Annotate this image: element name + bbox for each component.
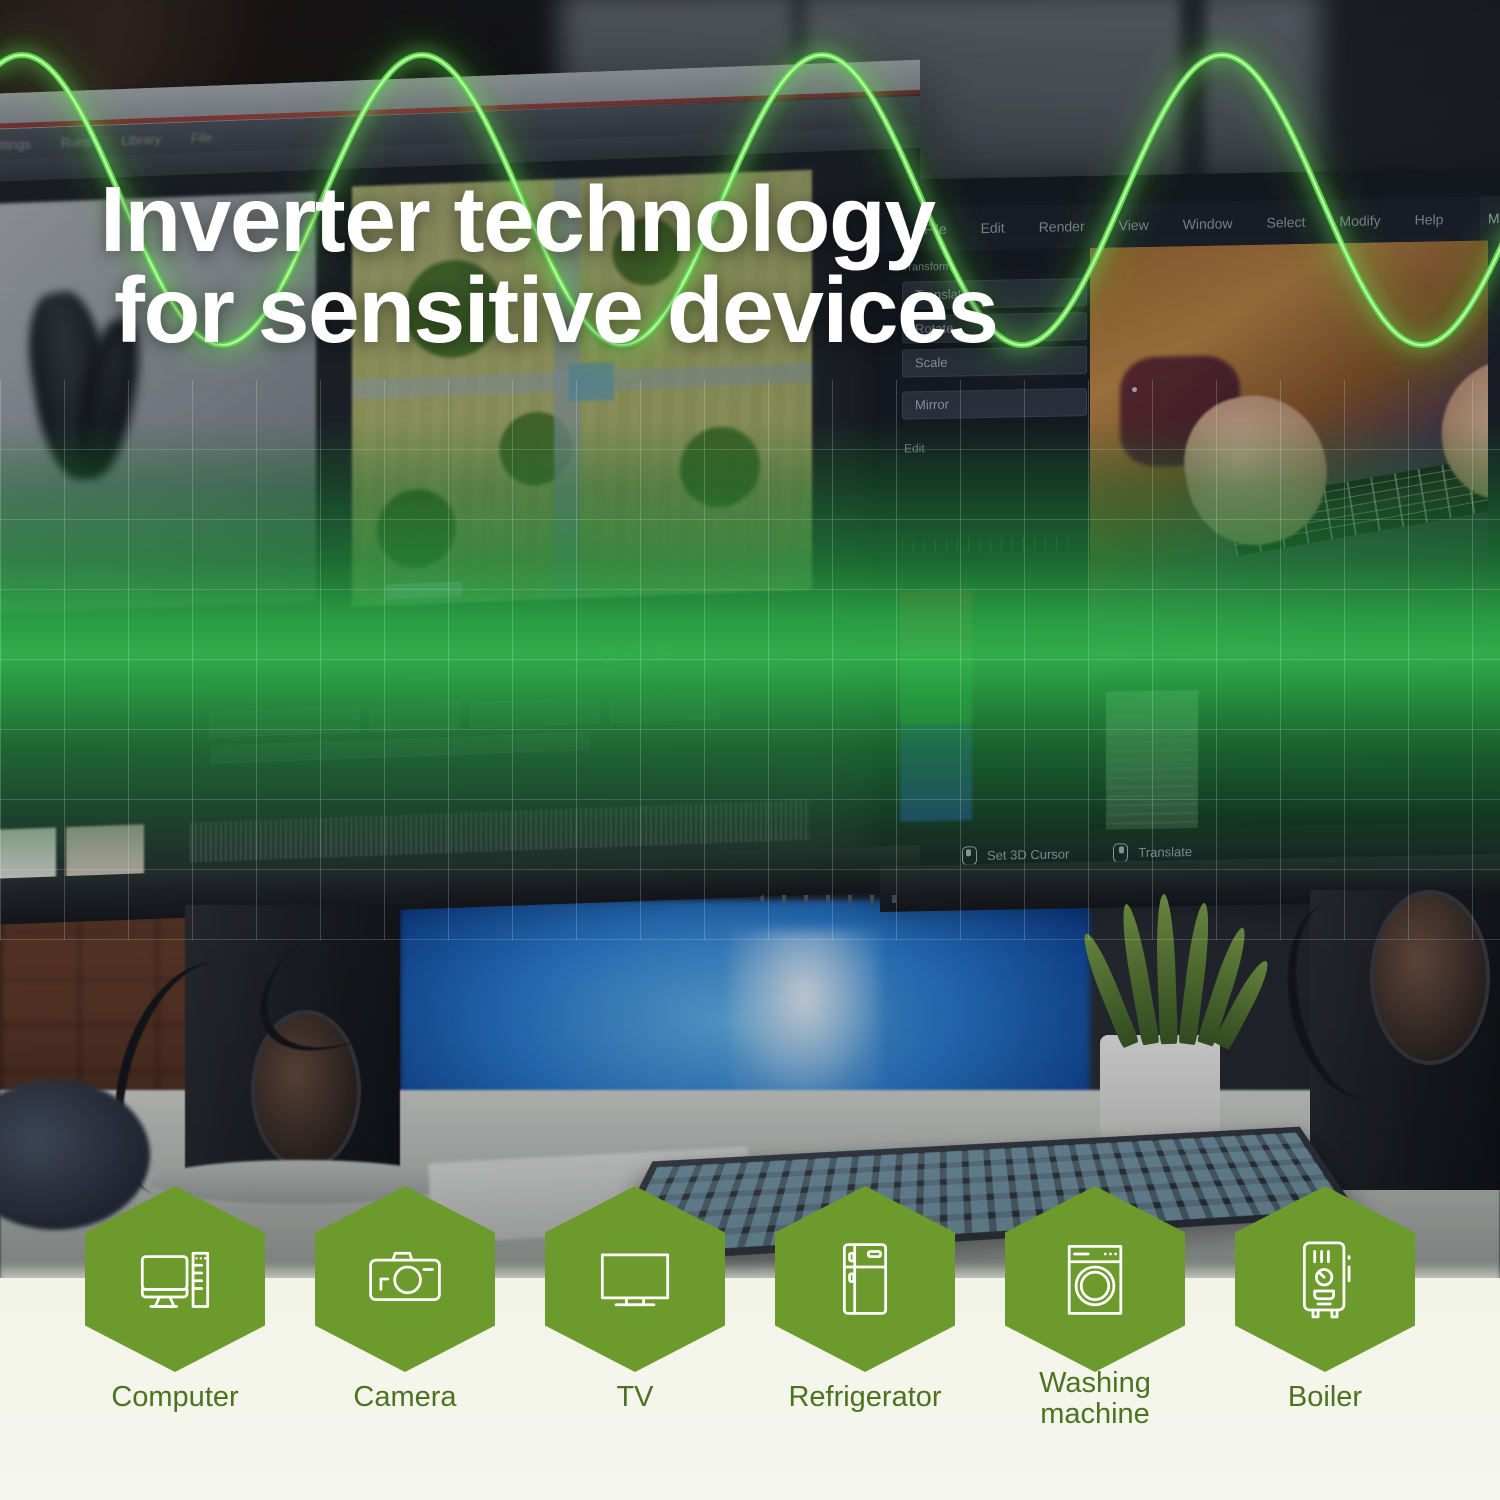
badge-label: Boiler — [1215, 1382, 1435, 1413]
badge-label: TV — [525, 1382, 745, 1413]
badge-label-line-2: machine — [1040, 1398, 1150, 1430]
headline-line-2: for sensitive devices — [114, 265, 1150, 355]
refrigerator-icon — [822, 1236, 908, 1322]
badge-computer[interactable]: Computer — [85, 1186, 265, 1372]
badge-camera[interactable]: Camera — [315, 1186, 495, 1372]
computer-monitor-icon — [132, 1236, 218, 1322]
headline-line-1: Inverter technology — [100, 167, 935, 271]
washing-machine-icon — [1052, 1236, 1138, 1322]
hexagon-shape[interactable] — [545, 1186, 725, 1372]
camera-icon — [362, 1236, 448, 1322]
badge-tv[interactable]: TV — [545, 1186, 725, 1372]
device-badges: Computer Camera — [0, 1186, 1500, 1500]
badge-label-line-1: Washing — [1039, 1367, 1151, 1399]
boiler-icon — [1282, 1236, 1368, 1322]
badge-label: Washing machine — [985, 1368, 1205, 1431]
badge-washing-machine[interactable]: Washing machine — [1005, 1186, 1185, 1372]
badge-refrigerator[interactable]: Refrigerator — [775, 1186, 955, 1372]
hexagon-shape[interactable] — [1235, 1186, 1415, 1372]
badge-label: Computer — [65, 1382, 285, 1413]
badge-label: Refrigerator — [755, 1382, 975, 1413]
hexagon-shape[interactable] — [85, 1186, 265, 1372]
marketing-graphic: Settings Runs Library File — [0, 0, 1500, 1500]
page-title: Inverter technology for sensitive device… — [100, 174, 1150, 354]
badge-boiler[interactable]: Boiler — [1235, 1186, 1415, 1372]
hexagon-shape[interactable] — [315, 1186, 495, 1372]
hexagon-shape[interactable] — [775, 1186, 955, 1372]
tv-icon — [592, 1236, 678, 1322]
badge-label: Camera — [295, 1382, 515, 1413]
hexagon-shape[interactable] — [1005, 1186, 1185, 1372]
